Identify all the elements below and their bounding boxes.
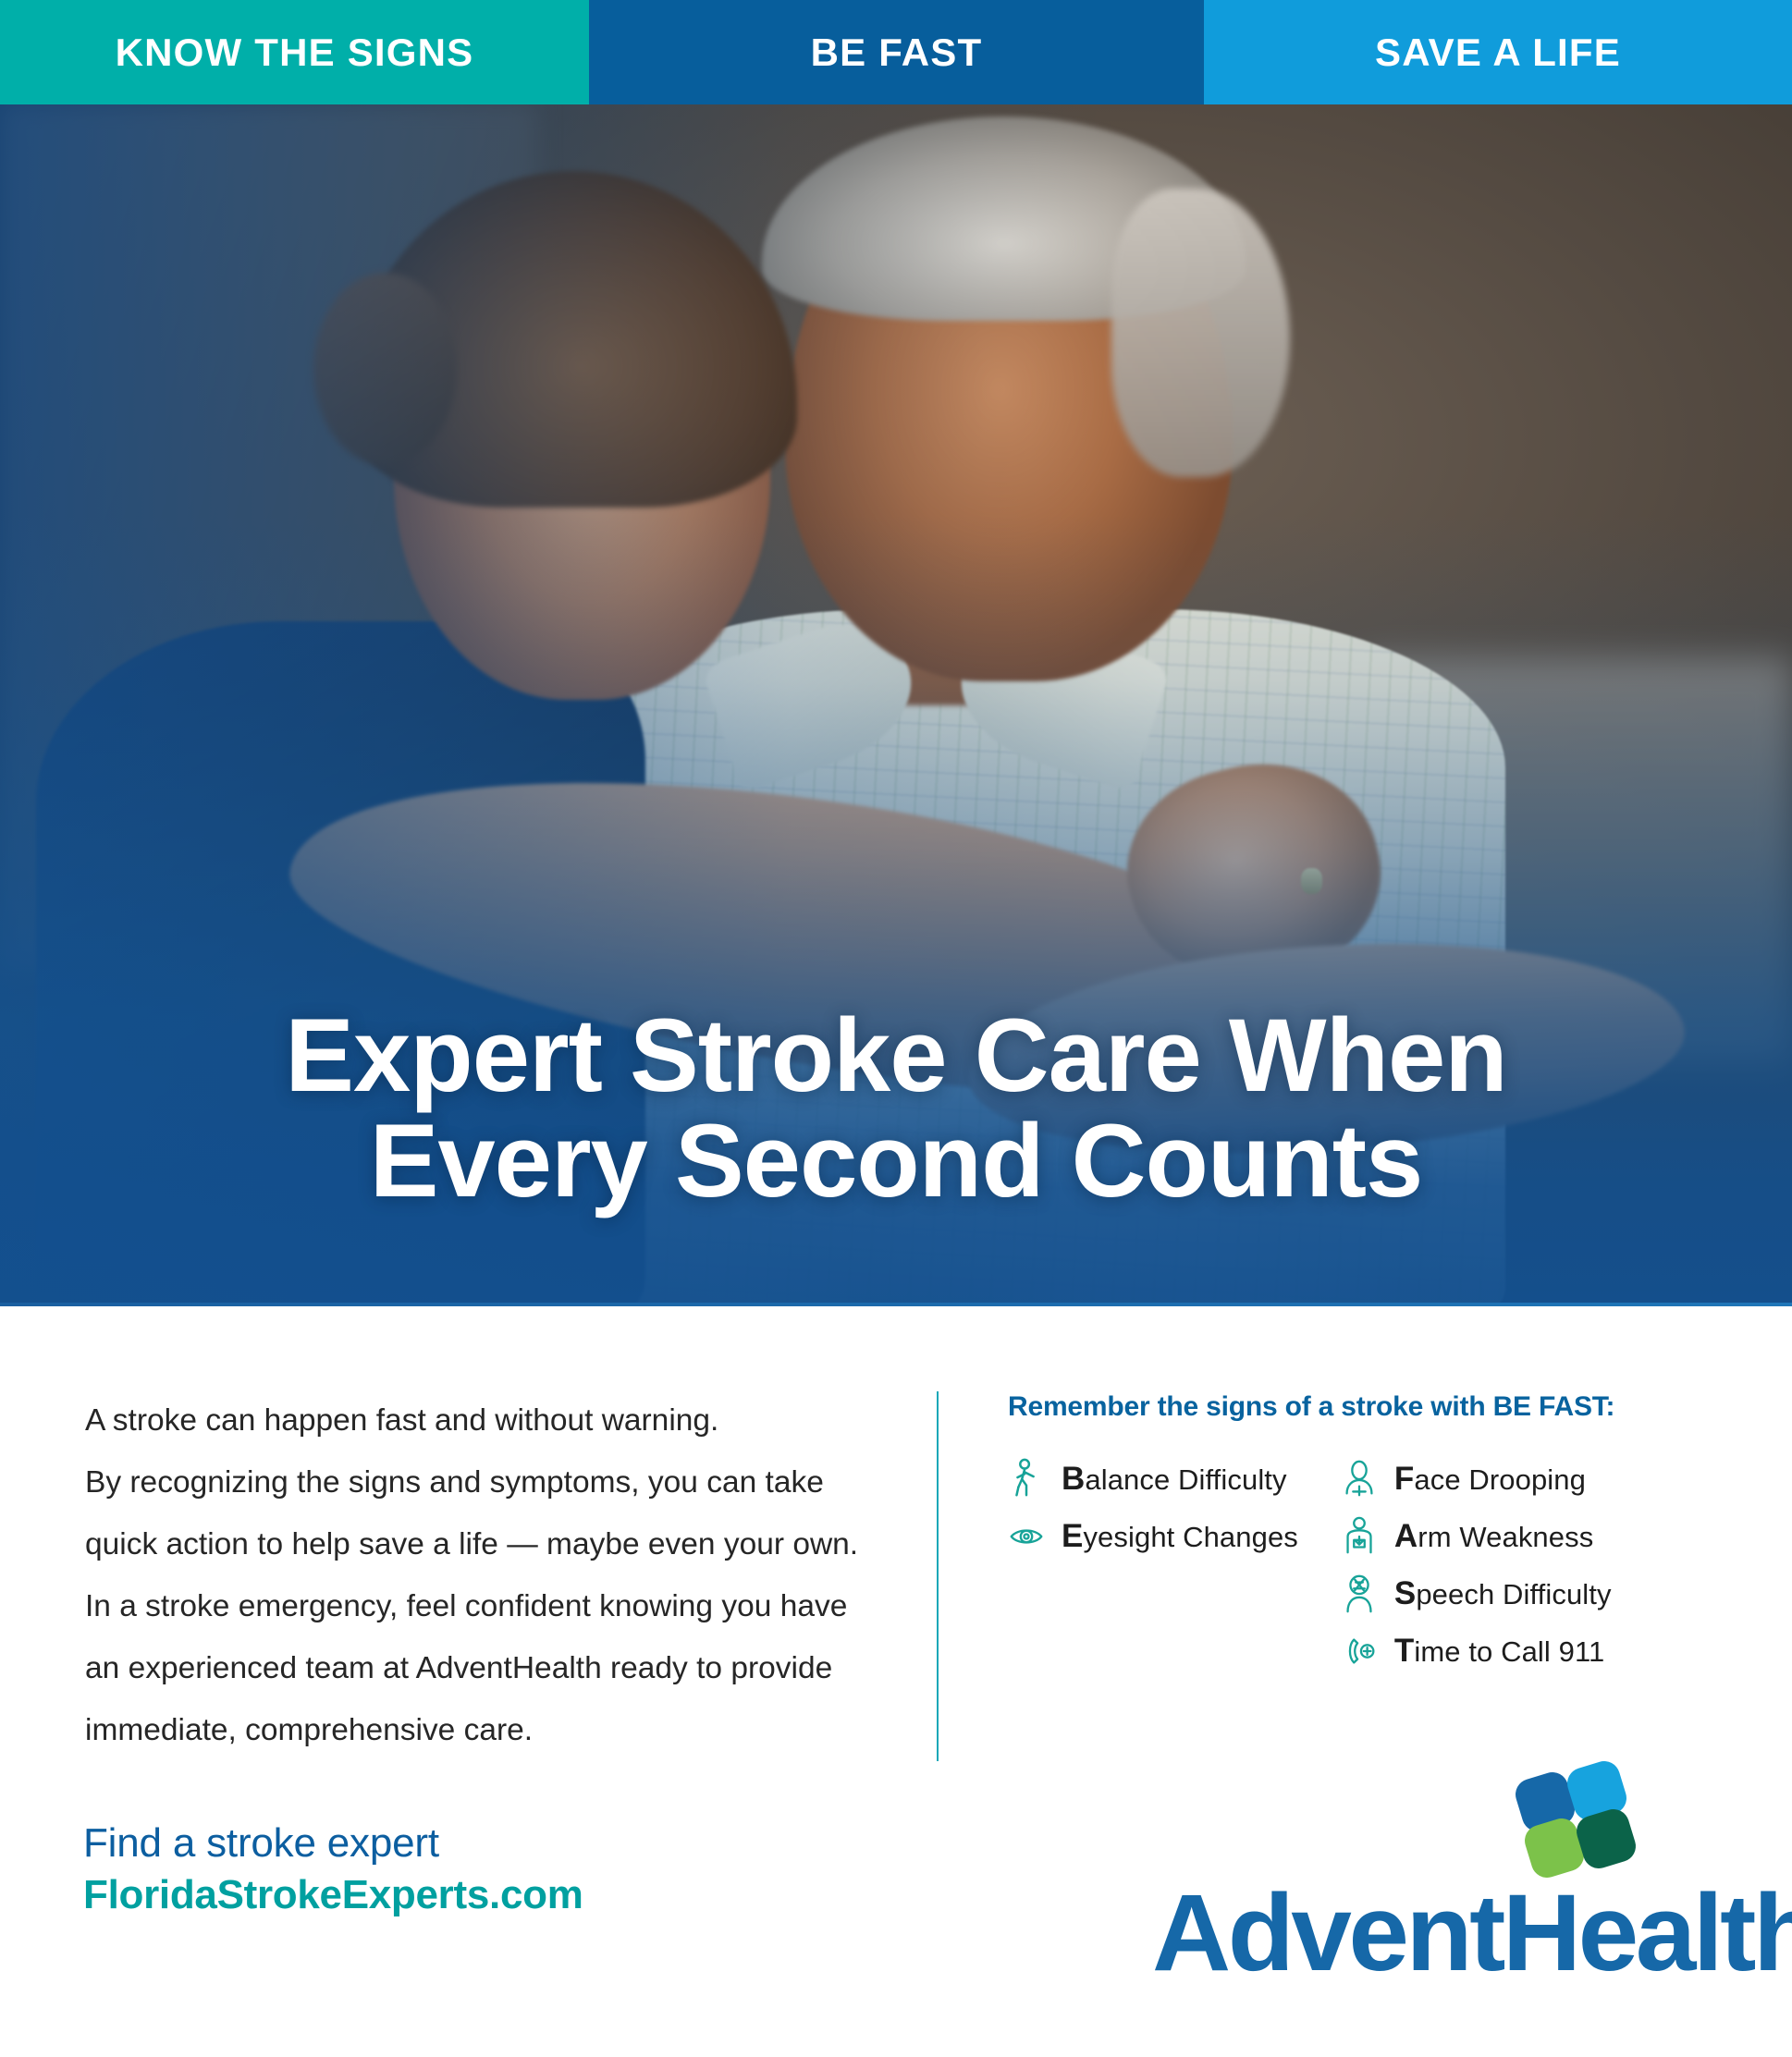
- be-fast-left-column: Balance Difficulty Eyesight Changes: [1008, 1458, 1298, 1672]
- be-fast-initial-s: S: [1394, 1575, 1416, 1611]
- be-fast-item-face: Face Drooping: [1341, 1458, 1612, 1500]
- arm-weakness-icon: [1341, 1515, 1378, 1558]
- be-fast-item-time: Time to Call 911: [1341, 1630, 1612, 1672]
- be-fast-rest-face: ace Drooping: [1414, 1463, 1586, 1496]
- be-fast-initial-f: F: [1394, 1461, 1414, 1497]
- be-fast-initial-b: B: [1062, 1461, 1085, 1497]
- paragraph-line: an experienced team at AdventHealth read…: [85, 1637, 880, 1699]
- adventhealth-logo-wordmark: AdventHealth: [1152, 1879, 1707, 1988]
- adventhealth-logo-mark: [1515, 1764, 1626, 1873]
- be-fast-initial-t: T: [1394, 1633, 1414, 1669]
- be-fast-rest-time: ime to Call 911: [1414, 1635, 1604, 1668]
- poster-root: KNOW THE SIGNS BE FAST SAVE A LIFE: [0, 0, 1792, 2057]
- be-fast-initial-e: E: [1062, 1518, 1083, 1554]
- be-fast-label-time: Time to Call 911: [1394, 1633, 1604, 1670]
- be-fast-label-balance: Balance Difficulty: [1062, 1461, 1287, 1498]
- banner-cell-know-the-signs: KNOW THE SIGNS: [0, 0, 589, 104]
- vertical-divider: [937, 1391, 939, 1761]
- headline-line-2: Every Second Counts: [0, 1108, 1792, 1214]
- headline-line-1: Expert Stroke Care When: [285, 998, 1506, 1113]
- be-fast-panel: Remember the signs of a stroke with BE F…: [1008, 1391, 1738, 1672]
- cta-website-link[interactable]: FloridaStrokeExperts.com: [83, 1869, 583, 1921]
- be-fast-item-arm: Arm Weakness: [1341, 1515, 1612, 1558]
- be-fast-columns: Balance Difficulty Eyesight Changes: [1008, 1458, 1738, 1672]
- walking-person-icon: [1008, 1458, 1045, 1500]
- be-fast-label-face: Face Drooping: [1394, 1461, 1586, 1498]
- adventhealth-logo: AdventHealth: [1152, 1764, 1707, 1988]
- be-fast-title: Remember the signs of a stroke with BE F…: [1008, 1391, 1738, 1423]
- speech-difficulty-icon: [1341, 1573, 1378, 1615]
- hero-headline: Expert Stroke Care When Every Second Cou…: [0, 1003, 1792, 1214]
- content-section: A stroke can happen fast and without war…: [0, 1306, 1792, 2057]
- paragraph-line: A stroke can happen fast and without war…: [85, 1390, 880, 1451]
- top-banner: KNOW THE SIGNS BE FAST SAVE A LIFE: [0, 0, 1792, 104]
- eye-icon: [1008, 1515, 1045, 1558]
- paragraph-line: In a stroke emergency, feel confident kn…: [85, 1575, 880, 1637]
- be-fast-rest-eyesight: yesight Changes: [1083, 1521, 1297, 1553]
- cta-find-expert-text: Find a stroke expert: [83, 1818, 583, 1869]
- paragraph-line: immediate, comprehensive care.: [85, 1699, 880, 1761]
- body-paragraph: A stroke can happen fast and without war…: [85, 1390, 880, 1761]
- be-fast-rest-speech: peech Difficulty: [1416, 1578, 1611, 1610]
- be-fast-label-eyesight: Eyesight Changes: [1062, 1518, 1298, 1555]
- banner-cell-be-fast: BE FAST: [589, 0, 1204, 104]
- call-to-action: Find a stroke expert FloridaStrokeExpert…: [83, 1818, 583, 1922]
- banner-cell-save-a-life: SAVE A LIFE: [1204, 0, 1792, 104]
- be-fast-right-column: Face Drooping Arm Weakness: [1341, 1458, 1612, 1672]
- be-fast-label-arm: Arm Weakness: [1394, 1518, 1593, 1555]
- be-fast-item-speech: Speech Difficulty: [1341, 1573, 1612, 1615]
- paragraph-line: quick action to help save a life — maybe…: [85, 1513, 880, 1575]
- face-drooping-icon: [1341, 1458, 1378, 1500]
- be-fast-rest-balance: alance Difficulty: [1085, 1463, 1286, 1496]
- be-fast-initial-a: A: [1394, 1518, 1418, 1554]
- be-fast-label-speech: Speech Difficulty: [1394, 1575, 1612, 1612]
- be-fast-item-eyesight: Eyesight Changes: [1008, 1515, 1298, 1558]
- banner-label-be-fast: BE FAST: [811, 31, 983, 75]
- banner-label-save-a-life: SAVE A LIFE: [1375, 31, 1621, 75]
- banner-label-know-the-signs: KNOW THE SIGNS: [116, 31, 474, 75]
- phone-emergency-icon: [1341, 1630, 1378, 1672]
- be-fast-rest-arm: rm Weakness: [1418, 1521, 1593, 1553]
- be-fast-item-balance: Balance Difficulty: [1008, 1458, 1298, 1500]
- paragraph-line: By recognizing the signs and symptoms, y…: [85, 1451, 880, 1513]
